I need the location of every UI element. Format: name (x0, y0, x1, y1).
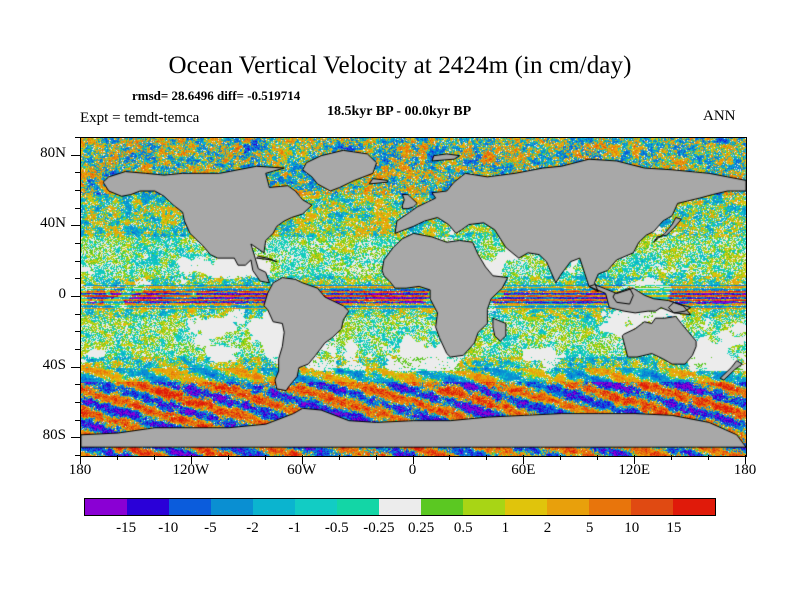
colorbar (84, 498, 716, 516)
y-axis-tick (75, 420, 80, 421)
colorbar-cell-11 (547, 499, 589, 515)
y-axis-tick (71, 225, 80, 226)
time-period-label: 18.5kyr BP - 00.0kyr BP (327, 104, 471, 120)
x-axis-label: 120E (594, 462, 674, 479)
colorbar-cell-4 (253, 499, 295, 515)
y-axis-tick (71, 155, 80, 156)
statistics-label: rmsd= 28.6496 diff= -0.519714 (132, 88, 300, 104)
y-axis-tick (75, 261, 80, 262)
x-axis-tick (597, 455, 598, 460)
colorbar-cell-6 (337, 499, 379, 515)
colorbar-cell-8 (421, 499, 463, 515)
x-axis-tick (486, 455, 487, 460)
colorbar-cell-14 (673, 499, 715, 515)
ocean-vertical-velocity-heatmap (81, 138, 746, 456)
x-axis-label: 60E (483, 462, 563, 479)
y-axis-tick (75, 331, 80, 332)
colorbar-cell-13 (631, 499, 673, 515)
season-label: ANN (703, 108, 736, 125)
y-axis-label: 0 (6, 286, 66, 303)
page-title: Ocean Vertical Velocity at 2424m (in cm/… (0, 52, 800, 80)
y-axis-tick (71, 437, 80, 438)
y-axis-tick (71, 296, 80, 297)
x-axis-tick (265, 455, 266, 460)
colorbar-cell-9 (463, 499, 505, 515)
x-axis-tick (117, 455, 118, 460)
colorbar-cell-10 (505, 499, 547, 515)
y-axis-tick (71, 367, 80, 368)
x-axis-label: 180 (705, 462, 785, 479)
y-axis-tick (75, 455, 80, 456)
colorbar-cell-7 (379, 499, 421, 515)
x-axis-tick (671, 455, 672, 460)
x-axis-tick (376, 455, 377, 460)
y-axis-label: 40N (6, 215, 66, 232)
colorbar-cell-2 (169, 499, 211, 515)
colorbar-cell-5 (295, 499, 337, 515)
y-axis-tick (75, 172, 80, 173)
x-axis-tick (708, 455, 709, 460)
colorbar-cell-12 (589, 499, 631, 515)
colorbar-cell-3 (211, 499, 253, 515)
y-axis-tick (75, 384, 80, 385)
y-axis-tick (75, 208, 80, 209)
y-axis-tick (75, 349, 80, 350)
y-axis-tick (75, 278, 80, 279)
colorbar-swatches (84, 498, 716, 516)
x-axis-tick (449, 455, 450, 460)
x-axis-tick (154, 455, 155, 460)
x-axis-tick (228, 455, 229, 460)
colorbar-cell-0 (85, 499, 127, 515)
colorbar-tick-label: 15 (644, 520, 704, 537)
map-plot-area (80, 137, 747, 457)
colorbar-cell-1 (127, 499, 169, 515)
x-axis-label: 120W (151, 462, 231, 479)
experiment-label: Expt = temdt-temca (80, 110, 199, 127)
x-axis-tick (560, 455, 561, 460)
x-axis-label: 180 (40, 462, 120, 479)
y-axis-tick (75, 137, 80, 138)
x-axis-label: 60W (262, 462, 342, 479)
y-axis-label: 40S (6, 357, 66, 374)
x-axis-label: 0 (373, 462, 453, 479)
y-axis-tick (75, 402, 80, 403)
y-axis-tick (75, 314, 80, 315)
y-axis-tick (75, 190, 80, 191)
x-axis-tick (339, 455, 340, 460)
y-axis-label: 80N (6, 145, 66, 162)
figure-root: Ocean Vertical Velocity at 2424m (in cm/… (0, 0, 800, 600)
y-axis-tick (75, 243, 80, 244)
y-axis-label: 80S (6, 427, 66, 444)
